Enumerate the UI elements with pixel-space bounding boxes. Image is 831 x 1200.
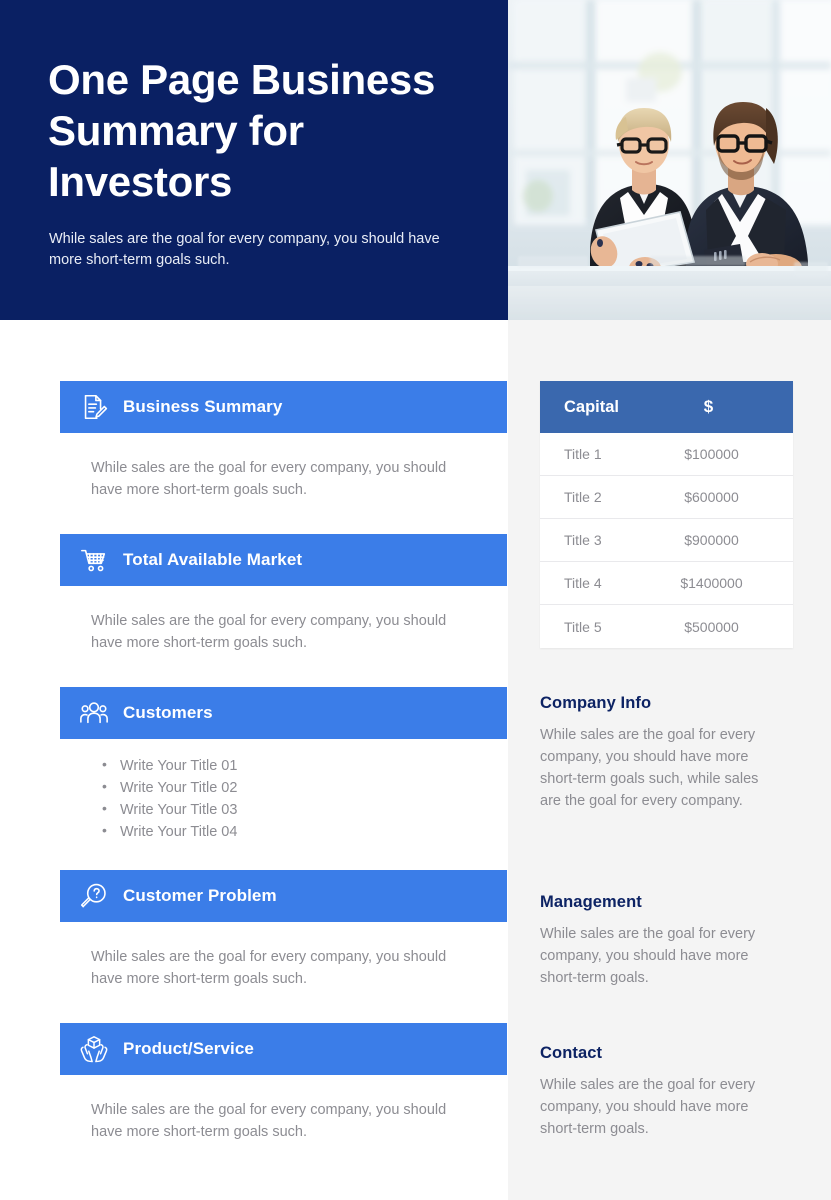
- section-body-text: While sales are the goal for every compa…: [60, 922, 480, 991]
- office-people-photo-illustration: [508, 0, 831, 320]
- section-title: Business Summary: [123, 397, 282, 417]
- table-cell-value: $500000: [650, 619, 793, 635]
- left-column: Business Summary While sales are the goa…: [60, 381, 507, 1144]
- list-item: Write Your Title 02: [102, 777, 507, 799]
- section-total-available-market: Total Available Market While sales are t…: [60, 534, 507, 655]
- info-block-heading: Company Info: [540, 694, 772, 713]
- section-body-text: While sales are the goal for every compa…: [60, 1075, 480, 1144]
- table-cell-value: $900000: [650, 532, 793, 548]
- info-block-body: While sales are the goal for every compa…: [540, 1074, 772, 1140]
- info-block-company-info: Company Info While sales are the goal fo…: [540, 694, 772, 812]
- section-title: Customers: [123, 703, 213, 723]
- table-cell-value: $1400000: [650, 575, 793, 591]
- table-column-header-capital: Capital: [540, 398, 650, 417]
- table-column-header-amount: $: [650, 397, 793, 417]
- section-header-customer-problem[interactable]: Customer Problem: [60, 870, 507, 922]
- info-block-contact: Contact While sales are the goal for eve…: [540, 1044, 772, 1140]
- hands-holding-box-icon: [79, 1034, 109, 1064]
- table-cell-label: Title 3: [540, 532, 650, 548]
- list-item: Write Your Title 03: [102, 799, 507, 821]
- table-row: Title 4 $1400000: [540, 562, 793, 605]
- table-row: Title 1 $100000: [540, 433, 793, 476]
- info-block-heading: Management: [540, 893, 772, 912]
- section-product-service: Product/Service While sales are the goal…: [60, 1023, 507, 1144]
- section-title: Customer Problem: [123, 886, 277, 906]
- list-item: Write Your Title 04: [102, 821, 507, 843]
- section-header-product-service[interactable]: Product/Service: [60, 1023, 507, 1075]
- info-block-body: While sales are the goal for every compa…: [540, 724, 772, 812]
- table-header-row: Capital $: [540, 381, 793, 433]
- info-block-heading: Contact: [540, 1044, 772, 1063]
- table-cell-value: $100000: [650, 446, 793, 462]
- capital-table: Capital $ Title 1 $100000 Title 2 $60000…: [540, 381, 793, 648]
- section-body-text: While sales are the goal for every compa…: [60, 433, 480, 502]
- info-block-body: While sales are the goal for every compa…: [540, 923, 772, 989]
- section-body-text: While sales are the goal for every compa…: [60, 586, 480, 655]
- document-edit-icon: [79, 392, 109, 422]
- table-cell-label: Title 1: [540, 446, 650, 462]
- customers-bullet-list: Write Your Title 01 Write Your Title 02 …: [60, 739, 507, 843]
- table-row: Title 3 $900000: [540, 519, 793, 562]
- section-title: Product/Service: [123, 1039, 254, 1059]
- customers-group-icon: [79, 698, 109, 728]
- spacer: [60, 655, 507, 687]
- list-item: Write Your Title 01: [102, 755, 507, 777]
- section-header-total-available-market[interactable]: Total Available Market: [60, 534, 507, 586]
- table-cell-label: Title 4: [540, 575, 650, 591]
- section-business-summary: Business Summary While sales are the goa…: [60, 381, 507, 502]
- shopping-cart-icon: [79, 545, 109, 575]
- table-cell-label: Title 5: [540, 619, 650, 635]
- table-row: Title 2 $600000: [540, 476, 793, 519]
- table-row: Title 5 $500000: [540, 605, 793, 648]
- spacer: [60, 991, 507, 1023]
- section-header-business-summary[interactable]: Business Summary: [60, 381, 507, 433]
- section-customers: Customers Write Your Title 01 Write Your…: [60, 687, 507, 843]
- page-subtitle: While sales are the goal for every compa…: [49, 229, 449, 271]
- section-header-customers[interactable]: Customers: [60, 687, 507, 739]
- section-title: Total Available Market: [123, 550, 302, 570]
- info-block-management: Management While sales are the goal for …: [540, 893, 772, 989]
- spacer: [60, 843, 507, 870]
- spacer: [60, 502, 507, 534]
- page-title: One Page Business Summary for Investors: [48, 54, 478, 208]
- one-page-business-summary: One Page Business Summary for Investors …: [0, 0, 831, 1200]
- table-cell-value: $600000: [650, 489, 793, 505]
- section-customer-problem: Customer Problem While sales are the goa…: [60, 870, 507, 991]
- magnifier-question-icon: [79, 881, 109, 911]
- table-cell-label: Title 2: [540, 489, 650, 505]
- hero-photo: [508, 0, 831, 320]
